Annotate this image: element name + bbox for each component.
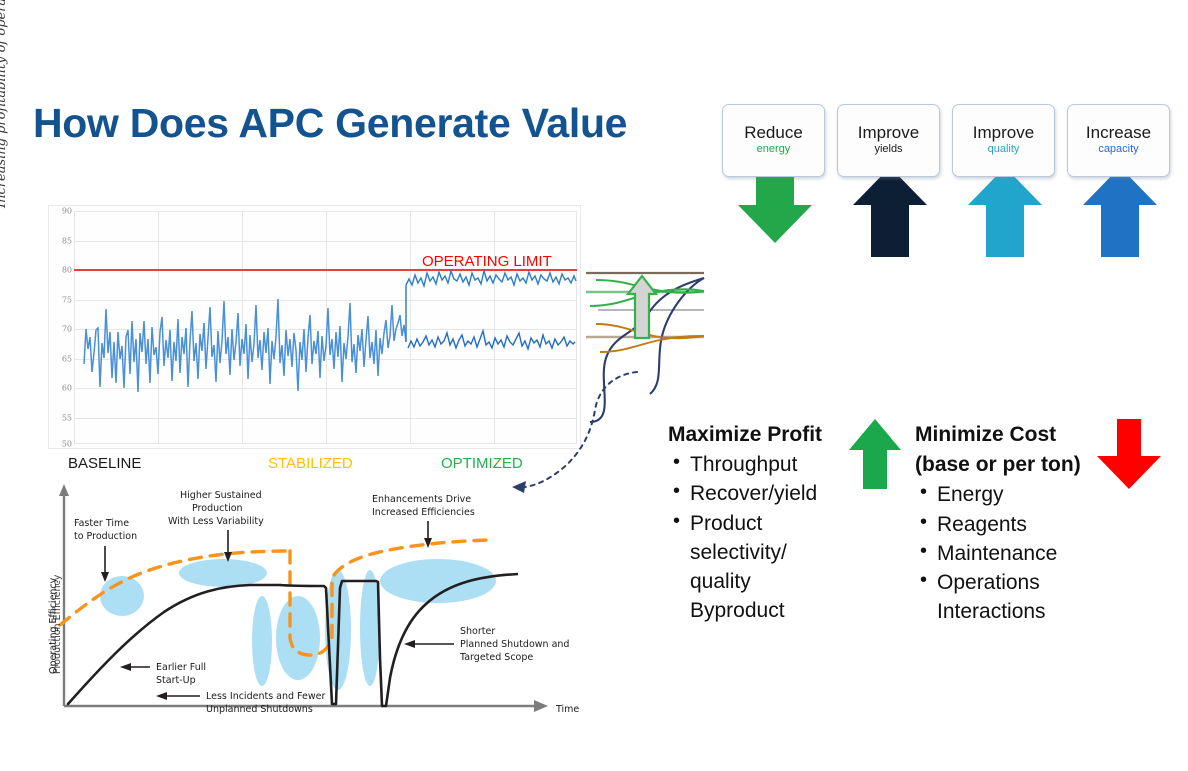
value-box-improve-quality[interactable]: Improve quality bbox=[952, 104, 1055, 177]
list-item: quality bbox=[668, 567, 843, 596]
minimize-heading-line1: Minimize Cost bbox=[915, 420, 1105, 449]
svg-text:Earlier Full: Earlier Full bbox=[156, 662, 206, 673]
minimize-list: Energy Reagents Maintenance Operations I… bbox=[915, 480, 1105, 626]
svg-text:Higher Sustained: Higher Sustained bbox=[180, 490, 262, 501]
higher-sustained-annotation: Higher Sustained Production With Less Va… bbox=[168, 490, 264, 562]
svg-text:Shorter: Shorter bbox=[460, 626, 495, 637]
svg-text:With Less Variability: With Less Variability bbox=[168, 516, 264, 527]
svg-text:Faster Time: Faster Time bbox=[74, 518, 129, 529]
minimize-heading-line2: (base or per ton) bbox=[915, 450, 1105, 479]
value-box-reduce-energy[interactable]: Reduce energy bbox=[722, 104, 825, 177]
y-tick: 50 bbox=[48, 440, 72, 449]
y-tick: 55 bbox=[48, 413, 72, 422]
list-item: Energy bbox=[915, 480, 1105, 509]
value-box-subtitle: energy bbox=[757, 143, 791, 156]
svg-text:Targeted Scope: Targeted Scope bbox=[459, 652, 533, 663]
faster-time-annotation: Faster Time to Production bbox=[74, 518, 137, 582]
y-tick: 70 bbox=[48, 325, 72, 334]
minimize-cost-down-arrow bbox=[1094, 418, 1164, 490]
improve-quality-up-arrow bbox=[968, 167, 1042, 257]
y-tick: 75 bbox=[48, 295, 72, 304]
y-tick: 85 bbox=[48, 236, 72, 245]
slide-canvas: How Does APC Generate Value 90 85 80 75 … bbox=[0, 0, 1188, 771]
maximize-list: Throughput Recover/yield Product selecti… bbox=[668, 450, 843, 625]
increase-capacity-up-arrow bbox=[1083, 167, 1157, 257]
maximize-heading: Maximize Profit bbox=[668, 420, 843, 449]
y-tick: 90 bbox=[48, 207, 72, 216]
value-box-title: Improve bbox=[858, 124, 919, 142]
maximize-profit-up-arrow bbox=[848, 418, 902, 490]
list-item: Product selectivity/ bbox=[668, 509, 843, 567]
list-item: Operations bbox=[915, 568, 1105, 597]
list-item: Byproduct bbox=[668, 596, 843, 625]
svg-text:Planned Shutdown and: Planned Shutdown and bbox=[460, 639, 569, 650]
list-item: Throughput bbox=[668, 450, 843, 479]
list-item: Maintenance bbox=[915, 539, 1105, 568]
maximize-profit-column: Maximize Profit Throughput Recover/yield… bbox=[668, 420, 843, 625]
page-title: How Does APC Generate Value bbox=[33, 100, 627, 147]
actual-curve-rampup bbox=[68, 585, 280, 704]
shorter-shutdown-annotation: Shorter Planned Shutdown and Targeted Sc… bbox=[404, 626, 569, 663]
list-item: Reagents bbox=[915, 510, 1105, 539]
value-box-arrows bbox=[722, 167, 1182, 257]
value-box-subtitle: quality bbox=[988, 143, 1020, 156]
y-tick: 65 bbox=[48, 354, 72, 363]
value-box-title: Reduce bbox=[744, 124, 803, 142]
value-box-subtitle: yields bbox=[874, 143, 902, 156]
phase-label-stabilized: STABILIZED bbox=[268, 455, 353, 472]
svg-text:Increased Efficiencies: Increased Efficiencies bbox=[372, 507, 475, 518]
svg-text:Less Incidents and Fewer: Less Incidents and Fewer bbox=[206, 691, 325, 702]
less-incidents-annotation: Less Incidents and Fewer Unplanned Shutd… bbox=[156, 691, 325, 715]
minimize-cost-column: Minimize Cost (base or per ton) Energy R… bbox=[915, 420, 1105, 626]
value-box-subtitle: capacity bbox=[1098, 143, 1138, 156]
value-boxes-group: Reduce energy Improve yields Improve qua… bbox=[722, 104, 1182, 179]
reduce-energy-down-arrow bbox=[738, 167, 812, 243]
earlier-startup-annotation: Earlier Full Start-Up bbox=[120, 662, 206, 686]
value-box-improve-yields[interactable]: Improve yields bbox=[837, 104, 940, 177]
svg-text:Enhancements Drive: Enhancements Drive bbox=[372, 494, 471, 505]
improve-yields-up-arrow bbox=[853, 167, 927, 257]
operating-limit-label: OPERATING LIMIT bbox=[422, 253, 552, 270]
svg-text:to Production: to Production bbox=[74, 531, 137, 542]
svg-text:Unplanned Shutdowns: Unplanned Shutdowns bbox=[206, 704, 313, 715]
y-tick: 80 bbox=[48, 266, 72, 275]
chart-y-axis-label: Increasing profitability of operation bbox=[0, 0, 9, 208]
phase-label-baseline: BASELINE bbox=[68, 455, 141, 472]
list-item: Interactions bbox=[915, 597, 1105, 626]
value-box-title: Improve bbox=[973, 124, 1034, 142]
svg-text:Production: Production bbox=[192, 503, 243, 514]
y-tick: 60 bbox=[48, 384, 72, 393]
value-box-title: Increase bbox=[1086, 124, 1151, 142]
list-item: Recover/yield bbox=[668, 479, 843, 508]
svg-text:Start-Up: Start-Up bbox=[156, 675, 196, 686]
sketch-x-axis-label: Time bbox=[555, 704, 579, 715]
sketch-y-axis-label: Operating Efficiency Production Efficien… bbox=[48, 574, 63, 674]
sketch-y-label-production: Production Efficiency bbox=[52, 574, 63, 674]
value-box-increase-capacity[interactable]: Increase capacity bbox=[1067, 104, 1170, 177]
operating-efficiency-sketch: Operating Efficiency Production Efficien… bbox=[40, 478, 600, 726]
